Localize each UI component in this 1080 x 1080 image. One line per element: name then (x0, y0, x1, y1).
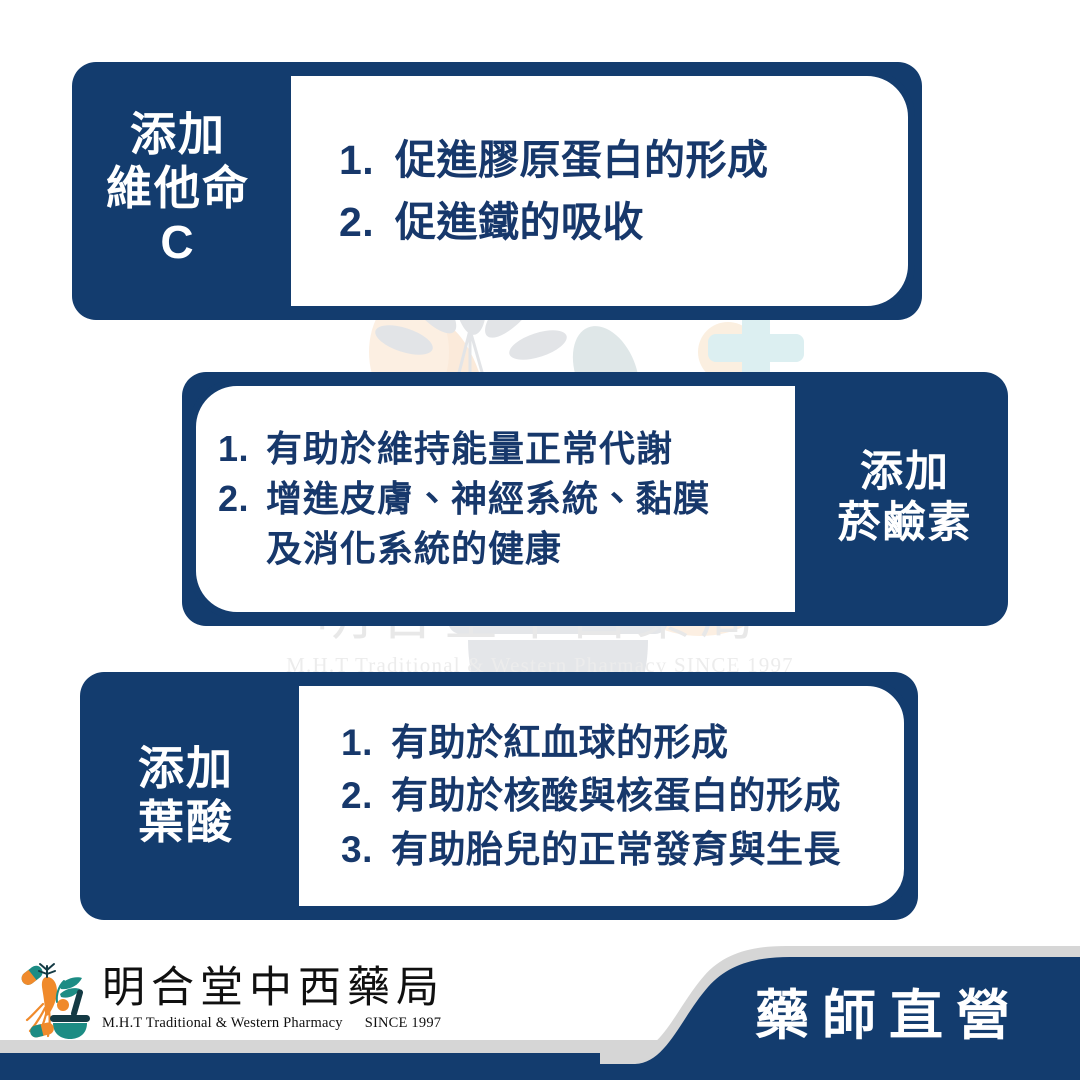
card-label-vitamin-c: 添加 維他命 C (72, 62, 284, 320)
benefit-item: 1. 促進膠原蛋白的形成 (339, 134, 898, 186)
card-body-folic-acid: 1. 有助於紅血球的形成 2. 有助於核酸與核蛋白的形成 3. 有助胎兒的正常發… (292, 679, 911, 913)
brand-logo-block: 明合堂中西藥局 M.H.T Traditional & Western Phar… (16, 958, 445, 1040)
benefit-number: 3. (341, 826, 391, 873)
pharmacist-operated-banner: 藥師直營 (600, 946, 1080, 1080)
benefit-text: 及消化系統的健康 (266, 526, 787, 572)
benefit-text: 有助於紅血球的形成 (391, 719, 894, 766)
brand-name-english: M.H.T Traditional & Western PharmacySINC… (102, 1015, 445, 1032)
card-body-vitamin-c: 1. 促進膠原蛋白的形成 2. 促進鐵的吸收 (284, 69, 915, 313)
card-label-folic-acid: 添加 葉酸 (80, 672, 292, 920)
card-label-line: 添加 (138, 741, 234, 795)
benefit-number: 2. (341, 772, 391, 819)
benefit-number: 1. (218, 426, 266, 472)
benefit-number: 1. (341, 719, 391, 766)
card-label-line: 添加 (130, 107, 226, 161)
card-label-line: 菸鹼素 (838, 498, 973, 549)
benefit-text: 促進膠原蛋白的形成 (395, 134, 898, 186)
benefit-item: 2. 增進皮膚、神經系統、黏膜 (218, 476, 787, 522)
card-label-line: 維他命 (106, 161, 250, 215)
benefit-text: 促進鐵的吸收 (395, 196, 898, 248)
benefit-text: 有助胎兒的正常發育與生長 (391, 826, 894, 873)
benefit-card-niacin: 1. 有助於維持能量正常代謝 2. 增進皮膚、神經系統、黏膜 及消化系統的健康 … (182, 372, 1008, 626)
benefit-item: 3. 有助胎兒的正常發育與生長 (341, 826, 894, 873)
benefit-text: 有助於核酸與核蛋白的形成 (391, 772, 894, 819)
brand-since: SINCE 1997 (365, 1015, 442, 1031)
benefit-number: 1. (339, 134, 395, 186)
benefit-item: 2. 有助於核酸與核蛋白的形成 (341, 772, 894, 819)
brand-en-text: M.H.T Traditional & Western Pharmacy (102, 1015, 343, 1031)
benefit-number: 2. (339, 196, 395, 248)
benefit-item: 1. 有助於維持能量正常代謝 (218, 426, 787, 472)
benefit-number: 2. (218, 476, 266, 522)
brand-text-block: 明合堂中西藥局 M.H.T Traditional & Western Phar… (102, 966, 445, 1032)
benefit-card-vitamin-c: 添加 維他命 C 1. 促進膠原蛋白的形成 2. 促進鐵的吸收 (72, 62, 922, 320)
brand-name-chinese: 明合堂中西藥局 (102, 966, 445, 1011)
benefit-text: 有助於維持能量正常代謝 (266, 426, 787, 472)
card-label-line: 添加 (860, 447, 950, 498)
benefit-card-folic-acid: 添加 葉酸 1. 有助於紅血球的形成 2. 有助於核酸與核蛋白的形成 3. 有助… (80, 672, 918, 920)
benefit-item: 及消化系統的健康 (218, 526, 787, 572)
pharmacy-logo-icon (16, 958, 94, 1040)
banner-label: 藥師直營 (698, 976, 1080, 1043)
benefit-item: 2. 促進鐵的吸收 (339, 196, 898, 248)
card-label-line: C (160, 215, 195, 269)
card-body-niacin: 1. 有助於維持能量正常代謝 2. 增進皮膚、神經系統、黏膜 及消化系統的健康 (189, 379, 802, 619)
benefit-item: 1. 有助於紅血球的形成 (341, 719, 894, 766)
card-label-niacin: 添加 菸鹼素 (802, 372, 1008, 626)
benefit-text: 增進皮膚、神經系統、黏膜 (266, 476, 787, 522)
card-label-line: 葉酸 (138, 795, 234, 849)
